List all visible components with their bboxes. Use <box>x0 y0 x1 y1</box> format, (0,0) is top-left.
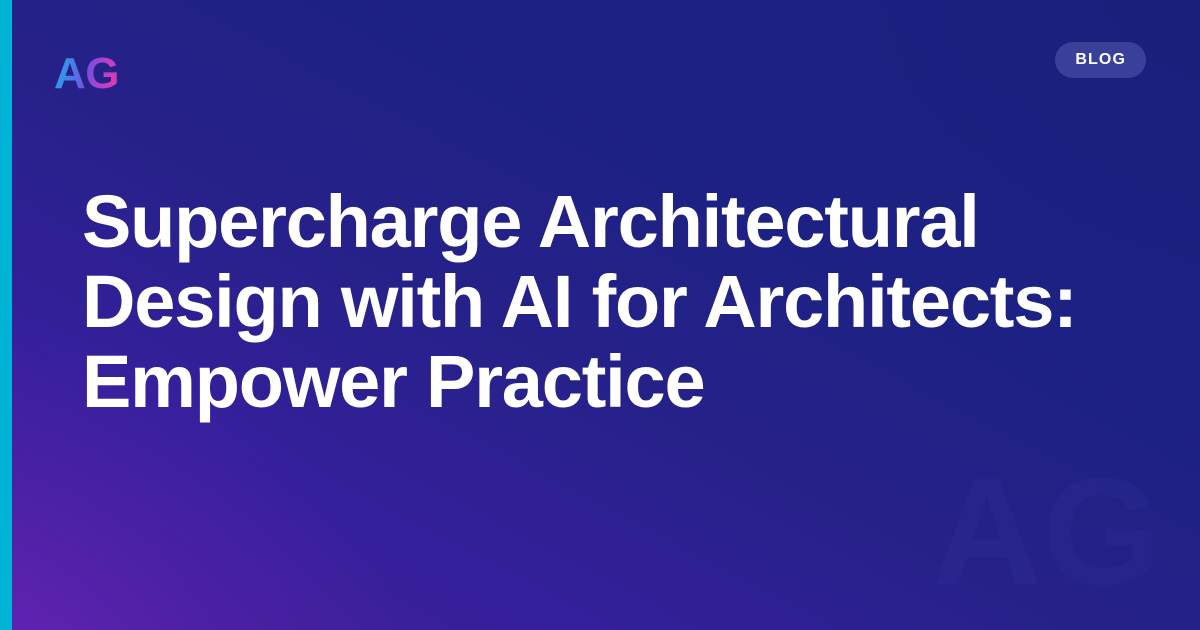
ag-watermark: AG <box>932 456 1162 608</box>
page-title: Supercharge Architectural Design with AI… <box>82 182 1082 422</box>
left-accent-bar <box>0 0 12 630</box>
status-badge[interactable]: BLOG <box>1055 42 1146 78</box>
blog-og-card: AG AG BLOG Supercharge Architectural Des… <box>0 0 1200 630</box>
ag-logo[interactable]: AG <box>54 52 119 96</box>
badge-label: BLOG <box>1075 52 1126 68</box>
